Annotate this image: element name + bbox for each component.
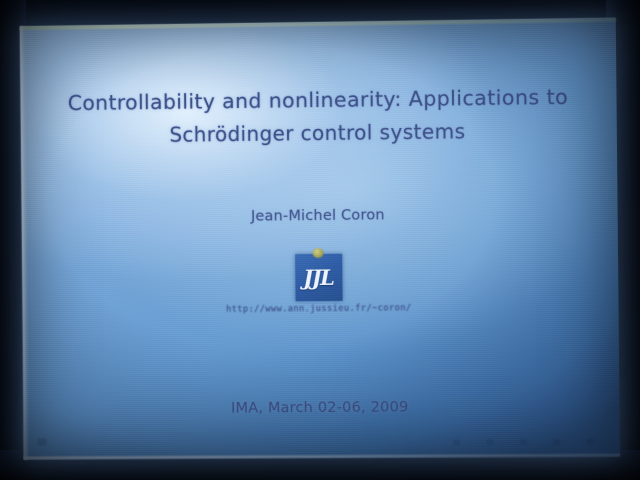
nav-back-icon[interactable] xyxy=(586,439,593,445)
projection-screen: Controllability and nonlinearity: Applic… xyxy=(20,18,620,460)
nav-first-page-icon[interactable] xyxy=(453,439,460,445)
nav-previous-page-icon[interactable] xyxy=(486,439,493,445)
jjl-logo-icon: JJL xyxy=(295,254,342,301)
slide-url: http://www.ann.jussieu.fr/~coron/ xyxy=(23,302,619,317)
presentation-title-slide: Controllability and nonlinearity: Applic… xyxy=(20,18,620,460)
slide-title-line-2: Schrödinger control systems xyxy=(21,113,617,153)
viewer-navigation-strip xyxy=(24,438,620,447)
slide-venue-date: IMA, March 02-06, 2009 xyxy=(23,398,619,418)
logo-letters: JJL xyxy=(295,254,342,301)
screenshot-frame: Controllability and nonlinearity: Applic… xyxy=(0,0,640,480)
slide-title: Controllability and nonlinearity: Applic… xyxy=(20,80,616,153)
logo-area: JJL xyxy=(22,251,618,303)
nav-next-page-icon[interactable] xyxy=(520,439,527,445)
nav-last-page-icon[interactable] xyxy=(553,439,560,445)
slide-author: Jean-Michel Coron xyxy=(22,205,618,227)
